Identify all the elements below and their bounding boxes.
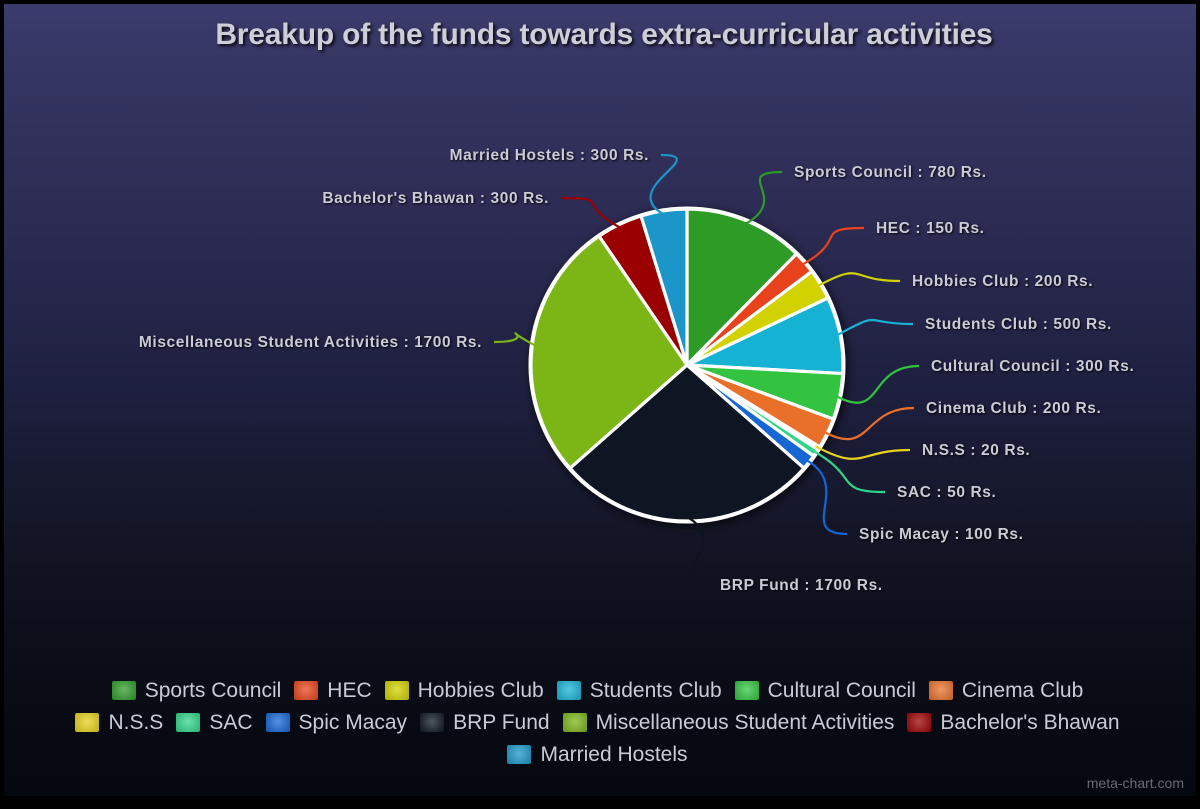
legend-label: Bachelor's Bhawan: [940, 712, 1119, 733]
leader-line-hobbies-club: [817, 273, 900, 286]
legend-swatch-icon: [507, 745, 531, 764]
legend-item[interactable]: Spic Macay: [266, 708, 408, 736]
slice-label-hobbies-club: Hobbies Club : 200 Rs.: [912, 273, 1093, 291]
leader-line-brp-fund: [687, 517, 708, 585]
legend-item[interactable]: Cultural Council: [735, 676, 916, 704]
legend-swatch-icon: [266, 713, 290, 732]
slice-label-cinema-club: Cinema Club : 200 Rs.: [926, 400, 1101, 418]
legend-item[interactable]: Married Hostels: [507, 740, 687, 768]
legend-swatch-icon: [176, 713, 200, 732]
legend-item[interactable]: BRP Fund: [420, 708, 550, 736]
slice-label-students-club: Students Club : 500 Rs.: [925, 316, 1112, 334]
leader-line-sac: [813, 451, 885, 492]
legend-swatch-icon: [75, 713, 99, 732]
legend-item[interactable]: Students Club: [557, 676, 722, 704]
legend-label: Miscellaneous Student Activities: [596, 712, 895, 733]
legend-swatch-icon: [385, 681, 409, 700]
slice-label-brp-fund: BRP Fund : 1700 Rs.: [720, 577, 883, 595]
legend-label: Sports Council: [145, 680, 282, 701]
slice-label-cultural-council: Cultural Council : 300 Rs.: [931, 358, 1134, 376]
watermark: meta-chart.com: [1087, 775, 1184, 791]
legend-swatch-icon: [557, 681, 581, 700]
slice-label-spic-macay: Spic Macay : 100 Rs.: [859, 526, 1024, 544]
legend-swatch-icon: [907, 713, 931, 732]
leader-line-bachelor-s-bhawan: [561, 198, 621, 228]
leader-line-students-club: [836, 320, 913, 336]
legend-item[interactable]: Sports Council: [112, 676, 282, 704]
legend-item[interactable]: SAC: [176, 708, 252, 736]
legend-label: Spic Macay: [299, 712, 408, 733]
slice-label-bachelors-bhawan: Bachelor's Bhawan : 300 Rs.: [4, 190, 549, 208]
slice-label-hec: HEC : 150 Rs.: [876, 220, 985, 238]
leader-line-cultural-council: [836, 366, 919, 403]
legend-item[interactable]: N.S.S: [75, 708, 163, 736]
leader-line-hec: [802, 228, 865, 265]
slice-label-nss: N.S.S : 20 Rs.: [922, 442, 1030, 460]
leader-line-n-s-s: [816, 446, 911, 459]
legend-label: Married Hostels: [540, 744, 687, 765]
leader-line-miscellaneous-student-activities: [494, 333, 536, 346]
leader-line-sports-council: [745, 172, 782, 224]
slice-label-sports-council: Sports Council : 780 Rs.: [794, 164, 987, 182]
legend-swatch-icon: [735, 681, 759, 700]
chart-legend: Sports CouncilHECHobbies ClubStudents Cl…: [4, 676, 1200, 772]
legend-swatch-icon: [420, 713, 444, 732]
legend-label: SAC: [209, 712, 252, 733]
leader-line-married-hostels: [650, 155, 676, 215]
slice-label-married-hostels: Married Hostels : 300 Rs.: [4, 147, 649, 165]
chart-canvas: Breakup of the funds towards extra-curri…: [0, 0, 1200, 800]
pie-slices: [529, 207, 846, 524]
legend-label: HEC: [327, 680, 371, 701]
legend-item[interactable]: Miscellaneous Student Activities: [563, 708, 895, 736]
legend-label: Cinema Club: [962, 680, 1083, 701]
legend-label: BRP Fund: [453, 712, 550, 733]
legend-item[interactable]: Hobbies Club: [385, 676, 544, 704]
slice-label-misc-student: Miscellaneous Student Activities : 1700 …: [4, 334, 482, 352]
legend-label: N.S.S: [108, 712, 163, 733]
legend-item[interactable]: Cinema Club: [929, 676, 1083, 704]
legend-swatch-icon: [294, 681, 318, 700]
legend-swatch-icon: [929, 681, 953, 700]
legend-swatch-icon: [563, 713, 587, 732]
slice-label-sac: SAC : 50 Rs.: [897, 484, 996, 502]
legend-item[interactable]: HEC: [294, 676, 371, 704]
legend-item[interactable]: Bachelor's Bhawan: [907, 708, 1119, 736]
legend-label: Hobbies Club: [418, 680, 544, 701]
legend-swatch-icon: [112, 681, 136, 700]
legend-label: Students Club: [590, 680, 722, 701]
legend-label: Cultural Council: [768, 680, 916, 701]
